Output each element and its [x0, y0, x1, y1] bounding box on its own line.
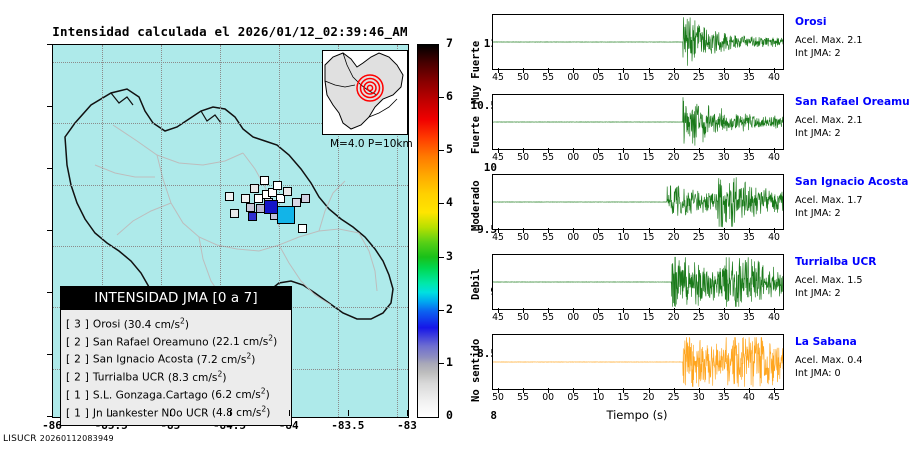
seismogram-trace: [493, 95, 783, 149]
locator-inset-map[interactable]: [322, 50, 408, 135]
time-tick-label: 20: [661, 152, 687, 163]
map-x-tick-label: -83.5: [318, 419, 378, 432]
time-tick-label: 15: [636, 152, 662, 163]
seismogram-station-name[interactable]: San Ignacio Acosta: [795, 176, 910, 188]
seismogram-time-axis: 455055000510152025303540: [492, 68, 782, 82]
time-tick-label: 15: [610, 392, 636, 403]
time-tick-label: 50: [510, 72, 536, 83]
colorbar-tick-label: 5: [446, 142, 453, 156]
seismogram-jma-intensity: Int JMA: 2: [795, 288, 910, 299]
time-tick-label: 45: [485, 152, 511, 163]
seismogram-column: 455055000510152025303540OrosiAcel. Max. …: [492, 14, 910, 444]
station-intensity-marker[interactable]: [264, 200, 278, 214]
map-y-tick-mark: [47, 168, 53, 169]
seismogram-panel[interactable]: [492, 14, 784, 70]
time-tick-label: 10: [610, 72, 636, 83]
seismogram-peak-acceleration: Acel. Max. 1.5: [795, 275, 910, 286]
station-intensity-marker[interactable]: [225, 192, 234, 201]
intensity-legend-panel[interactable]: INTENSIDAD JMA [0 a 7] [ 3 ] Orosi (30.4…: [60, 286, 292, 426]
seismogram-time-axis: 455055000510152025303540: [492, 228, 782, 242]
seismogram-peak-acceleration: Acel. Max. 0.4: [795, 355, 910, 366]
map-y-tick-mark: [47, 230, 53, 231]
station-intensity-marker[interactable]: [277, 206, 295, 224]
time-tick-label: 05: [585, 152, 611, 163]
map-x-tick-mark: [230, 410, 231, 416]
time-tick-label: 50: [510, 152, 536, 163]
magnitude-depth-label: M=4.0 P=10km: [330, 138, 413, 150]
seismogram-trace: [493, 15, 783, 69]
map-x-tick-mark: [348, 410, 349, 416]
seismogram-jma-intensity: Int JMA: 2: [795, 48, 910, 59]
legend-rows: [ 3 ] Orosi (30.4 cm/s2)[ 2 ] San Rafael…: [61, 310, 291, 425]
legend-row-station: Orosi: [93, 319, 124, 331]
legend-row-intensity: [ 2 ]: [66, 354, 93, 366]
time-tick-label: 20: [661, 232, 687, 243]
colorbar-tick-label: 1: [446, 355, 453, 369]
time-tick-label: 25: [686, 152, 712, 163]
map-y-tick-mark: [47, 354, 53, 355]
station-intensity-marker[interactable]: [248, 212, 257, 221]
colorbar-tick-label: 2: [446, 302, 453, 316]
legend-row-intensity: [ 1 ]: [66, 407, 93, 419]
time-tick-label: 25: [686, 72, 712, 83]
map-x-tick-mark: [170, 410, 171, 416]
seismogram-station-name[interactable]: Orosi: [795, 16, 910, 28]
seismogram-station-name[interactable]: Turrialba UCR: [795, 256, 910, 268]
time-tick-label: 30: [686, 392, 712, 403]
seismogram-info: Turrialba UCRAcel. Max. 1.5Int JMA: 2: [795, 256, 910, 299]
time-tick-label: 55: [535, 152, 561, 163]
time-tick-label: 25: [686, 232, 712, 243]
seismogram-info: San Ignacio AcostaAcel. Max. 1.7Int JMA:…: [795, 176, 910, 219]
seismogram-panel[interactable]: [492, 254, 784, 310]
station-intensity-marker[interactable]: [298, 224, 307, 233]
seismogram-time-axis: 505500051015202530354045: [492, 388, 782, 402]
time-tick-label: 20: [661, 72, 687, 83]
time-tick-label: 00: [535, 392, 561, 403]
legend-row-intensity: [ 2 ]: [66, 372, 93, 384]
colorbar-tick-mark: [438, 97, 444, 98]
legend-row-intensity: [ 3 ]: [66, 319, 93, 331]
time-tick-label: 35: [736, 312, 762, 323]
colorbar-tick-label: 3: [446, 249, 453, 263]
colorbar-tick-mark: [438, 257, 444, 258]
seismogram-panel[interactable]: [492, 174, 784, 230]
seismogram-trace: [493, 335, 783, 389]
time-tick-label: 20: [636, 392, 662, 403]
time-tick-label: 40: [736, 392, 762, 403]
time-tick-label: 55: [535, 312, 561, 323]
station-intensity-marker[interactable]: [241, 194, 250, 203]
colorbar-category-label: No sentido: [470, 322, 482, 418]
seismogram-peak-acceleration: Acel. Max. 2.1: [795, 35, 910, 46]
station-intensity-marker[interactable]: [246, 203, 255, 212]
time-tick-label: 45: [761, 392, 787, 403]
seismogram-time-axis: 455055000510152025303540: [492, 308, 782, 322]
legend-row: [ 3 ] Orosi (30.4 cm/s2): [66, 314, 286, 332]
legend-row-intensity: [ 2 ]: [66, 336, 93, 348]
time-tick-label: 15: [636, 312, 662, 323]
map-x-tick-mark: [407, 410, 408, 416]
station-intensity-marker[interactable]: [301, 194, 310, 203]
seismogram-peak-acceleration: Acel. Max. 2.1: [795, 115, 910, 126]
time-tick-label: 10: [610, 232, 636, 243]
time-tick-label: 40: [761, 232, 787, 243]
colorbar-tick-mark: [438, 310, 444, 311]
colorbar-tick-mark: [438, 203, 444, 204]
seismogram-peak-acceleration: Acel. Max. 1.7: [795, 195, 910, 206]
map-y-tick-mark: [47, 44, 53, 45]
map-x-tick-mark: [289, 410, 290, 416]
colorbar-tick-mark: [438, 150, 444, 151]
seismogram-time-axis: 455055000510152025303540: [492, 148, 782, 162]
seismogram-trace: [493, 255, 783, 309]
legend-row-acceleration: (8.3 cm/s2): [168, 372, 227, 384]
seismogram-station-name[interactable]: La Sabana: [795, 336, 910, 348]
legend-row-acceleration: (7.2 cm/s2): [197, 354, 256, 366]
time-tick-label: 25: [686, 312, 712, 323]
map-y-tick-mark: [47, 106, 53, 107]
time-tick-label: 50: [485, 392, 511, 403]
inset-geometry: [323, 51, 405, 132]
time-tick-label: 30: [711, 72, 737, 83]
time-tick-label: 10: [585, 392, 611, 403]
time-tick-label: 45: [485, 72, 511, 83]
time-tick-label: 55: [535, 232, 561, 243]
seismogram-panel[interactable]: [492, 334, 784, 390]
colorbar-tick-label: 0: [446, 408, 453, 422]
time-tick-label: 35: [736, 72, 762, 83]
legend-row-acceleration: (22.1 cm/s2): [212, 336, 277, 348]
time-tick-label: 55: [510, 392, 536, 403]
legend-header: INTENSIDAD JMA [0 a 7]: [61, 287, 291, 310]
time-tick-label: 15: [636, 72, 662, 83]
seismogram-panel[interactable]: [492, 94, 784, 150]
map-x-tick-label: -83: [377, 419, 437, 432]
time-tick-label: 00: [560, 232, 586, 243]
time-tick-label: 30: [711, 152, 737, 163]
time-tick-label: 10: [610, 312, 636, 323]
map-x-tick-mark: [111, 410, 112, 416]
seismogram-trace: [493, 175, 783, 229]
time-tick-label: 35: [711, 392, 737, 403]
time-tick-label: 40: [761, 152, 787, 163]
map-y-tick-mark: [47, 416, 53, 417]
time-tick-label: 30: [711, 232, 737, 243]
station-intensity-marker[interactable]: [250, 184, 259, 193]
time-tick-label: 00: [560, 72, 586, 83]
colorbar-tick-label: 7: [446, 36, 453, 50]
time-tick-label: 30: [711, 312, 737, 323]
station-intensity-marker[interactable]: [230, 209, 239, 218]
legend-row: [ 2 ] San Ignacio Acosta (7.2 cm/s2): [66, 349, 286, 367]
seismogram-jma-intensity: Int JMA: 2: [795, 128, 910, 139]
station-intensity-marker[interactable]: [283, 187, 292, 196]
intensity-colorbar: [417, 44, 439, 418]
time-tick-label: 05: [560, 392, 586, 403]
legend-row-station: S.L. Gonzaga.Cartago: [93, 389, 211, 401]
colorbar-tick-mark: [438, 363, 444, 364]
legend-row: [ 1 ] Jn Lankester N0o UCR (4.8 cm/s2): [66, 403, 286, 421]
time-tick-label: 15: [636, 232, 662, 243]
time-tick-label: 45: [485, 232, 511, 243]
legend-row-intensity: [ 1 ]: [66, 389, 93, 401]
seismogram-jma-intensity: Int JMA: 0: [795, 368, 910, 379]
time-tick-label: 10: [610, 152, 636, 163]
seismogram-info: OrosiAcel. Max. 2.1Int JMA: 2: [795, 16, 910, 59]
time-tick-label: 05: [585, 312, 611, 323]
seismic-intensity-report: Intensidad calculada el 2026/01/12_02:39…: [0, 0, 910, 460]
seismogram-jma-intensity: Int JMA: 2: [795, 208, 910, 219]
time-tick-label: 35: [736, 232, 762, 243]
seismogram-info: La SabanaAcel. Max. 0.4Int JMA: 0: [795, 336, 910, 379]
watermark: LISUCR 20260112083949: [3, 434, 114, 444]
time-tick-label: 50: [510, 232, 536, 243]
time-tick-label: 35: [736, 152, 762, 163]
legend-row-acceleration: (4.8 cm/s2): [212, 407, 271, 419]
legend-row-station: Turrialba UCR: [93, 372, 168, 384]
time-tick-label: 20: [661, 312, 687, 323]
time-tick-label: 40: [761, 312, 787, 323]
legend-row: [ 2 ] San Rafael Oreamuno (22.1 cm/s2): [66, 332, 286, 350]
time-tick-label: 05: [585, 72, 611, 83]
time-tick-label: 50: [510, 312, 536, 323]
legend-row: [ 1 ] S.L. Gonzaga.Cartago (6.2 cm/s2): [66, 385, 286, 403]
map-x-tick-mark: [52, 410, 53, 416]
legend-row-station: San Rafael Oreamuno: [93, 336, 212, 348]
legend-row-station: San Ignacio Acosta: [93, 354, 197, 366]
time-tick-label: 40: [761, 72, 787, 83]
legend-row-acceleration: (6.2 cm/s2): [211, 389, 270, 401]
time-tick-label: 00: [560, 152, 586, 163]
time-tick-label: 45: [485, 312, 511, 323]
watermark-id: 20260112083949: [40, 434, 114, 443]
time-tick-label: 00: [560, 312, 586, 323]
legend-row: [ 2 ] Turrialba UCR (8.3 cm/s2): [66, 367, 286, 385]
seismogram-info: San Rafael OreamunoAcel. Max. 2.1Int JMA…: [795, 96, 910, 139]
seismogram-station-name[interactable]: San Rafael Oreamuno: [795, 96, 910, 108]
colorbar-tick-label: 6: [446, 89, 453, 103]
colorbar-tick-label: 4: [446, 195, 453, 209]
time-axis-title: Tiempo (s): [492, 408, 782, 422]
station-intensity-marker[interactable]: [260, 176, 269, 185]
page-title: Intensidad calculada el 2026/01/12_02:39…: [0, 24, 460, 39]
time-tick-label: 55: [535, 72, 561, 83]
colorbar-gradient: [418, 45, 438, 417]
time-tick-label: 25: [661, 392, 687, 403]
legend-row-acceleration: (30.4 cm/s2): [124, 319, 189, 331]
time-tick-label: 05: [585, 232, 611, 243]
station-intensity-marker[interactable]: [273, 181, 282, 190]
map-y-tick-mark: [47, 292, 53, 293]
watermark-source: LISUCR: [3, 434, 37, 444]
